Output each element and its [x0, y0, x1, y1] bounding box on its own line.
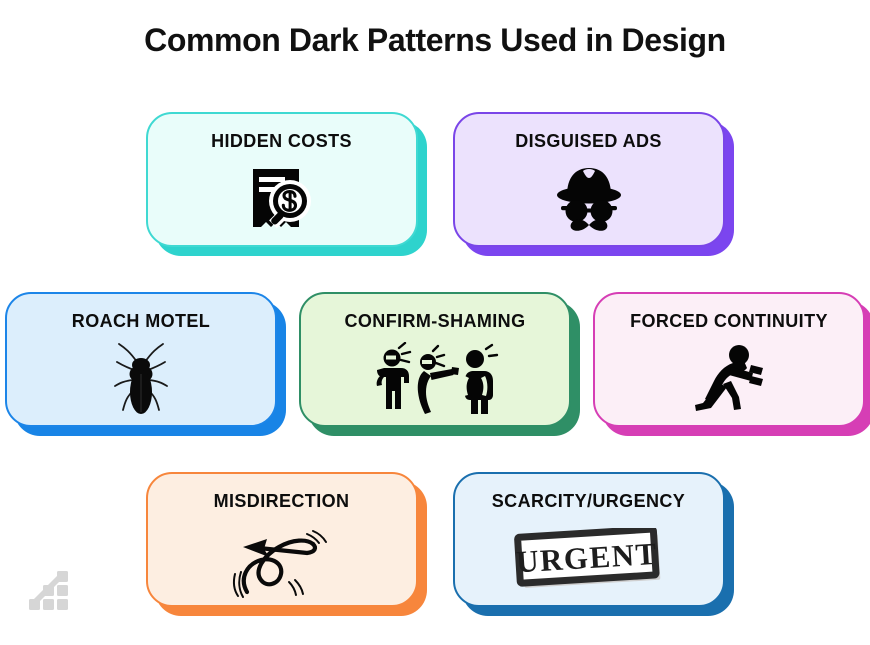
card-forced-continuity[interactable]: FORCED CONTINUITY: [593, 292, 865, 427]
incognito-hat-glasses-mustache-icon: [455, 152, 723, 245]
card-title: FORCED CONTINUITY: [630, 311, 828, 332]
card-hidden-costs[interactable]: HIDDEN COSTS: [146, 112, 418, 247]
card-title: SCARCITY/URGENCY: [492, 491, 685, 512]
card-confirm-shaming[interactable]: CONFIRM-SHAMING: [299, 292, 571, 427]
card-row-2: ROACH MOTEL: [0, 292, 870, 427]
three-figures-mocking-icon: [301, 332, 569, 425]
card-title: CONFIRM-SHAMING: [345, 311, 526, 332]
card-title: MISDIRECTION: [214, 491, 350, 512]
card-title: DISGUISED ADS: [515, 131, 662, 152]
figure-pushing-wall-icon: [595, 332, 863, 425]
receipt-magnifier-dollar-icon: [148, 152, 416, 245]
card-roach-motel[interactable]: ROACH MOTEL: [5, 292, 277, 427]
card-body[interactable]: SCARCITY/URGENCY URGENT: [453, 472, 725, 607]
card-body[interactable]: HIDDEN COSTS: [146, 112, 418, 247]
card-body[interactable]: CONFIRM-SHAMING: [299, 292, 571, 427]
cockroach-icon: [7, 332, 275, 425]
card-body[interactable]: FORCED CONTINUITY: [593, 292, 865, 427]
card-misdirection[interactable]: MISDIRECTION: [146, 472, 418, 607]
card-row-3: MISDIRECTION: [0, 472, 870, 607]
urgent-rubber-stamp-icon: URGENT: [455, 512, 723, 605]
looping-curved-arrow-icon: [148, 512, 416, 605]
card-scarcity-urgency[interactable]: SCARCITY/URGENCY URGENT: [453, 472, 725, 607]
card-body[interactable]: DISGUISED ADS: [453, 112, 725, 247]
card-disguised-ads[interactable]: DISGUISED ADS: [453, 112, 725, 247]
card-body[interactable]: ROACH MOTEL: [5, 292, 277, 427]
infographic-canvas: Common Dark Patterns Used in Design HIDD…: [0, 0, 870, 645]
card-body[interactable]: MISDIRECTION: [146, 472, 418, 607]
page-title: Common Dark Patterns Used in Design: [0, 22, 870, 59]
stair-step-bars-logo: [24, 561, 76, 613]
card-title: ROACH MOTEL: [72, 311, 210, 332]
card-title: HIDDEN COSTS: [211, 131, 352, 152]
card-row-1: HIDDEN COSTS: [0, 112, 870, 247]
